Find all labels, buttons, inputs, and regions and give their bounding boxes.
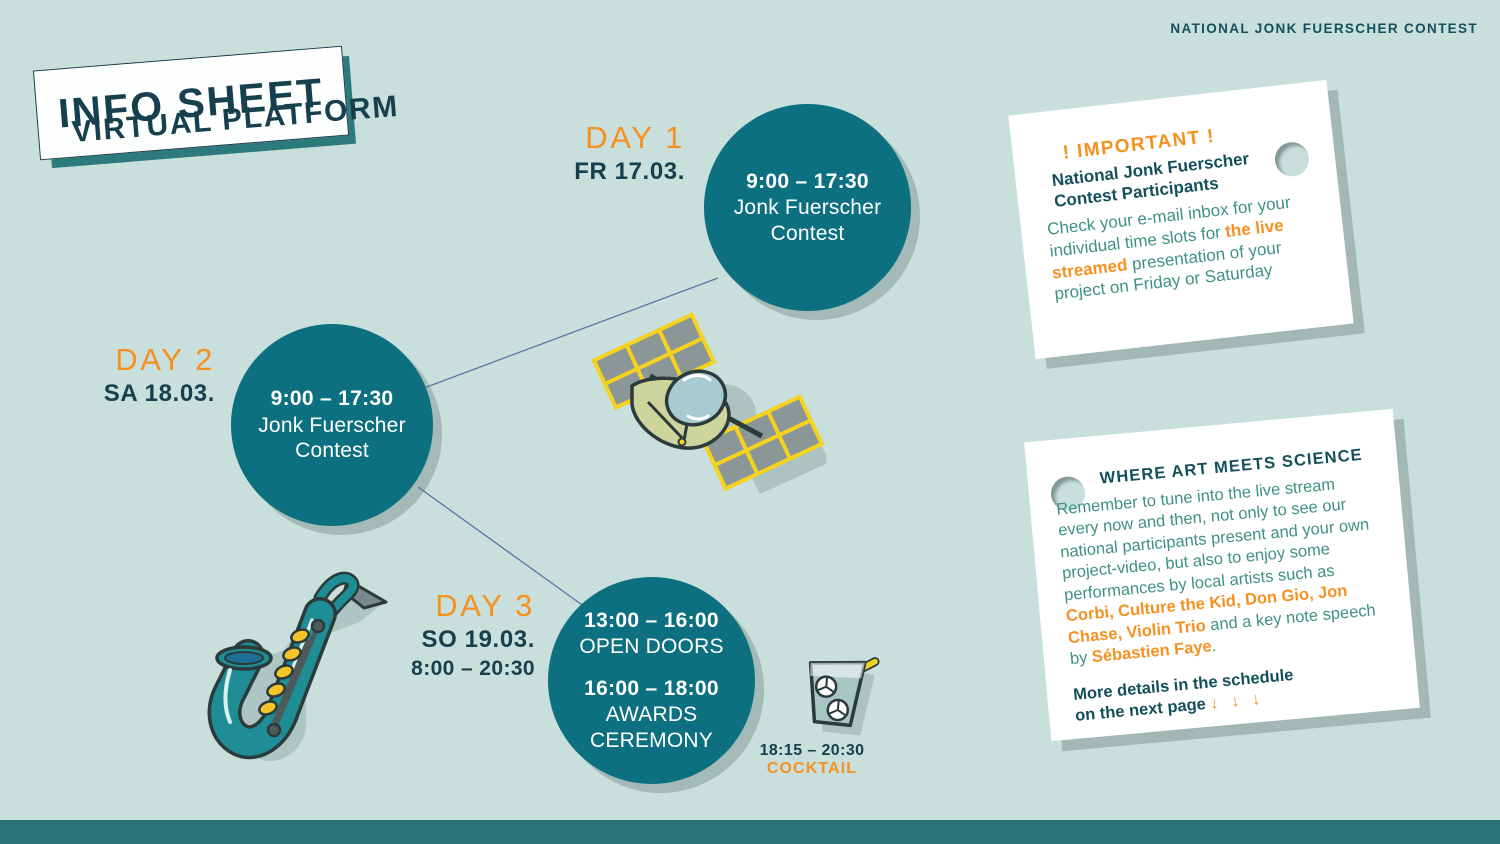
schedule-name-line2: Contest <box>734 221 882 247</box>
schedule-block: 16:00 – 18:00 AWARDS CEREMONY <box>584 676 719 753</box>
schedule-block: 13:00 – 16:00 OPEN DOORS <box>579 608 723 660</box>
day-label-date: SA 18.03. <box>0 378 215 409</box>
schedule-name-line2: Contest <box>258 438 406 464</box>
science-body: Remember to tune into the live stream ev… <box>1055 471 1387 671</box>
info-sheet-page: NATIONAL JONK FUERSCHER CONTEST INFO SHE… <box>0 0 1500 844</box>
cocktail-time: 18:15 – 20:30 <box>757 742 867 760</box>
day-label-day1: DAY 1 FR 17.03. <box>450 120 685 187</box>
schedule-block: 9:00 – 17:30 Jonk Fuerscher Contest <box>258 386 406 463</box>
schedule-time: 9:00 – 17:30 <box>258 386 406 412</box>
schedule-time: 9:00 – 17:30 <box>734 169 882 195</box>
important-note-card[interactable]: ! IMPORTANT ! National Jonk Fuerscher Co… <box>1008 80 1353 359</box>
day-label-number: DAY 1 <box>450 120 685 156</box>
schedule-name-line1: Jonk Fuerscher <box>734 195 882 221</box>
schedule-block: 9:00 – 17:30 Jonk Fuerscher Contest <box>734 169 882 246</box>
day-circle-day3[interactable]: 13:00 – 16:00 OPEN DOORS 16:00 – 18:00 A… <box>548 577 755 784</box>
day-label-date: FR 17.03. <box>450 156 685 187</box>
day-circle-day1[interactable]: 9:00 – 17:30 Jonk Fuerscher Contest <box>704 104 911 311</box>
day-label-hours: 8:00 – 20:30 <box>300 655 535 682</box>
science-note-card[interactable]: WHERE ART MEETS SCIENCE Remember to tune… <box>1024 409 1420 741</box>
day-label-day3: DAY 3 SO 19.03. 8:00 – 20:30 <box>300 588 535 682</box>
important-card-body: ! IMPORTANT ! National Jonk Fuerscher Co… <box>1008 80 1353 359</box>
cocktail-glass-illustration <box>786 636 892 742</box>
schedule-time: 16:00 – 18:00 <box>584 676 719 702</box>
day-label-date: SO 19.03. <box>300 624 535 655</box>
satellite-illustration <box>586 306 826 506</box>
schedule-name-line2: CEREMONY <box>584 728 719 754</box>
science-body-post: . <box>1211 637 1217 655</box>
schedule-time: 13:00 – 16:00 <box>579 608 723 634</box>
science-card-body: WHERE ART MEETS SCIENCE Remember to tune… <box>1024 409 1420 741</box>
day-label-number: DAY 2 <box>0 342 215 378</box>
day-label-day2: DAY 2 SA 18.03. <box>0 342 215 409</box>
schedule-name-line1: OPEN DOORS <box>579 634 723 660</box>
down-arrows-icon: ↓ ↓ ↓ <box>1209 689 1264 712</box>
schedule-name-line1: AWARDS <box>584 702 719 728</box>
footer-bar <box>0 820 1500 844</box>
cocktail-caption: 18:15 – 20:30 COCKTAIL <box>757 742 867 778</box>
cocktail-label: COCKTAIL <box>757 760 867 778</box>
day-circle-day2[interactable]: 9:00 – 17:30 Jonk Fuerscher Contest <box>231 324 433 526</box>
schedule-name-line1: Jonk Fuerscher <box>258 413 406 439</box>
day-label-number: DAY 3 <box>300 588 535 624</box>
